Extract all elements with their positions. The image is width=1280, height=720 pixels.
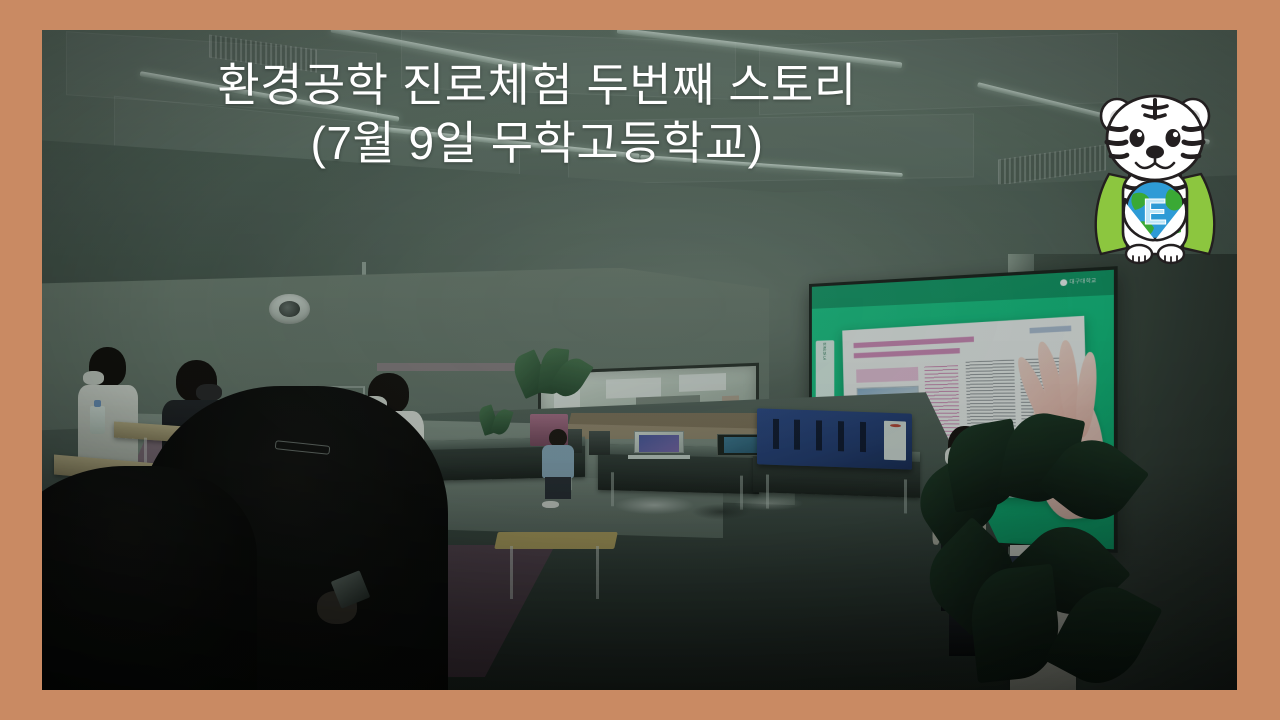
student-audience-member: [78, 347, 138, 466]
water-bottle: [90, 406, 106, 434]
ceiling-panel: [568, 114, 974, 185]
logo-mark-icon: [1060, 279, 1067, 286]
classroom-photo: 대구대학교 언론보도: [42, 30, 1237, 690]
seated-student: [538, 429, 579, 508]
floor-cables: [616, 492, 807, 525]
eco-tiger-mascot: E: [1075, 82, 1235, 272]
doc-subheadline-bar: [854, 347, 960, 358]
doc-brand-mark: [1029, 325, 1071, 333]
blue-equipment-rack: [757, 409, 912, 471]
potted-plant: [478, 406, 514, 452]
speaker: [589, 431, 609, 455]
doc-pink-callout: [856, 366, 918, 382]
small-table: [496, 532, 616, 598]
doc-headline-bar: [854, 336, 975, 348]
foreground-plant: [914, 413, 1153, 690]
foreground-student-silhouette: [42, 466, 257, 690]
laptop[interactable]: [634, 431, 684, 459]
wall-fan-icon: [269, 294, 310, 324]
ceiling-panel: [759, 32, 1118, 114]
slide-side-tab-text: 언론보도: [823, 342, 828, 360]
svg-text:E: E: [1143, 191, 1167, 232]
slide-canvas: 대구대학교 언론보도: [0, 0, 1280, 720]
